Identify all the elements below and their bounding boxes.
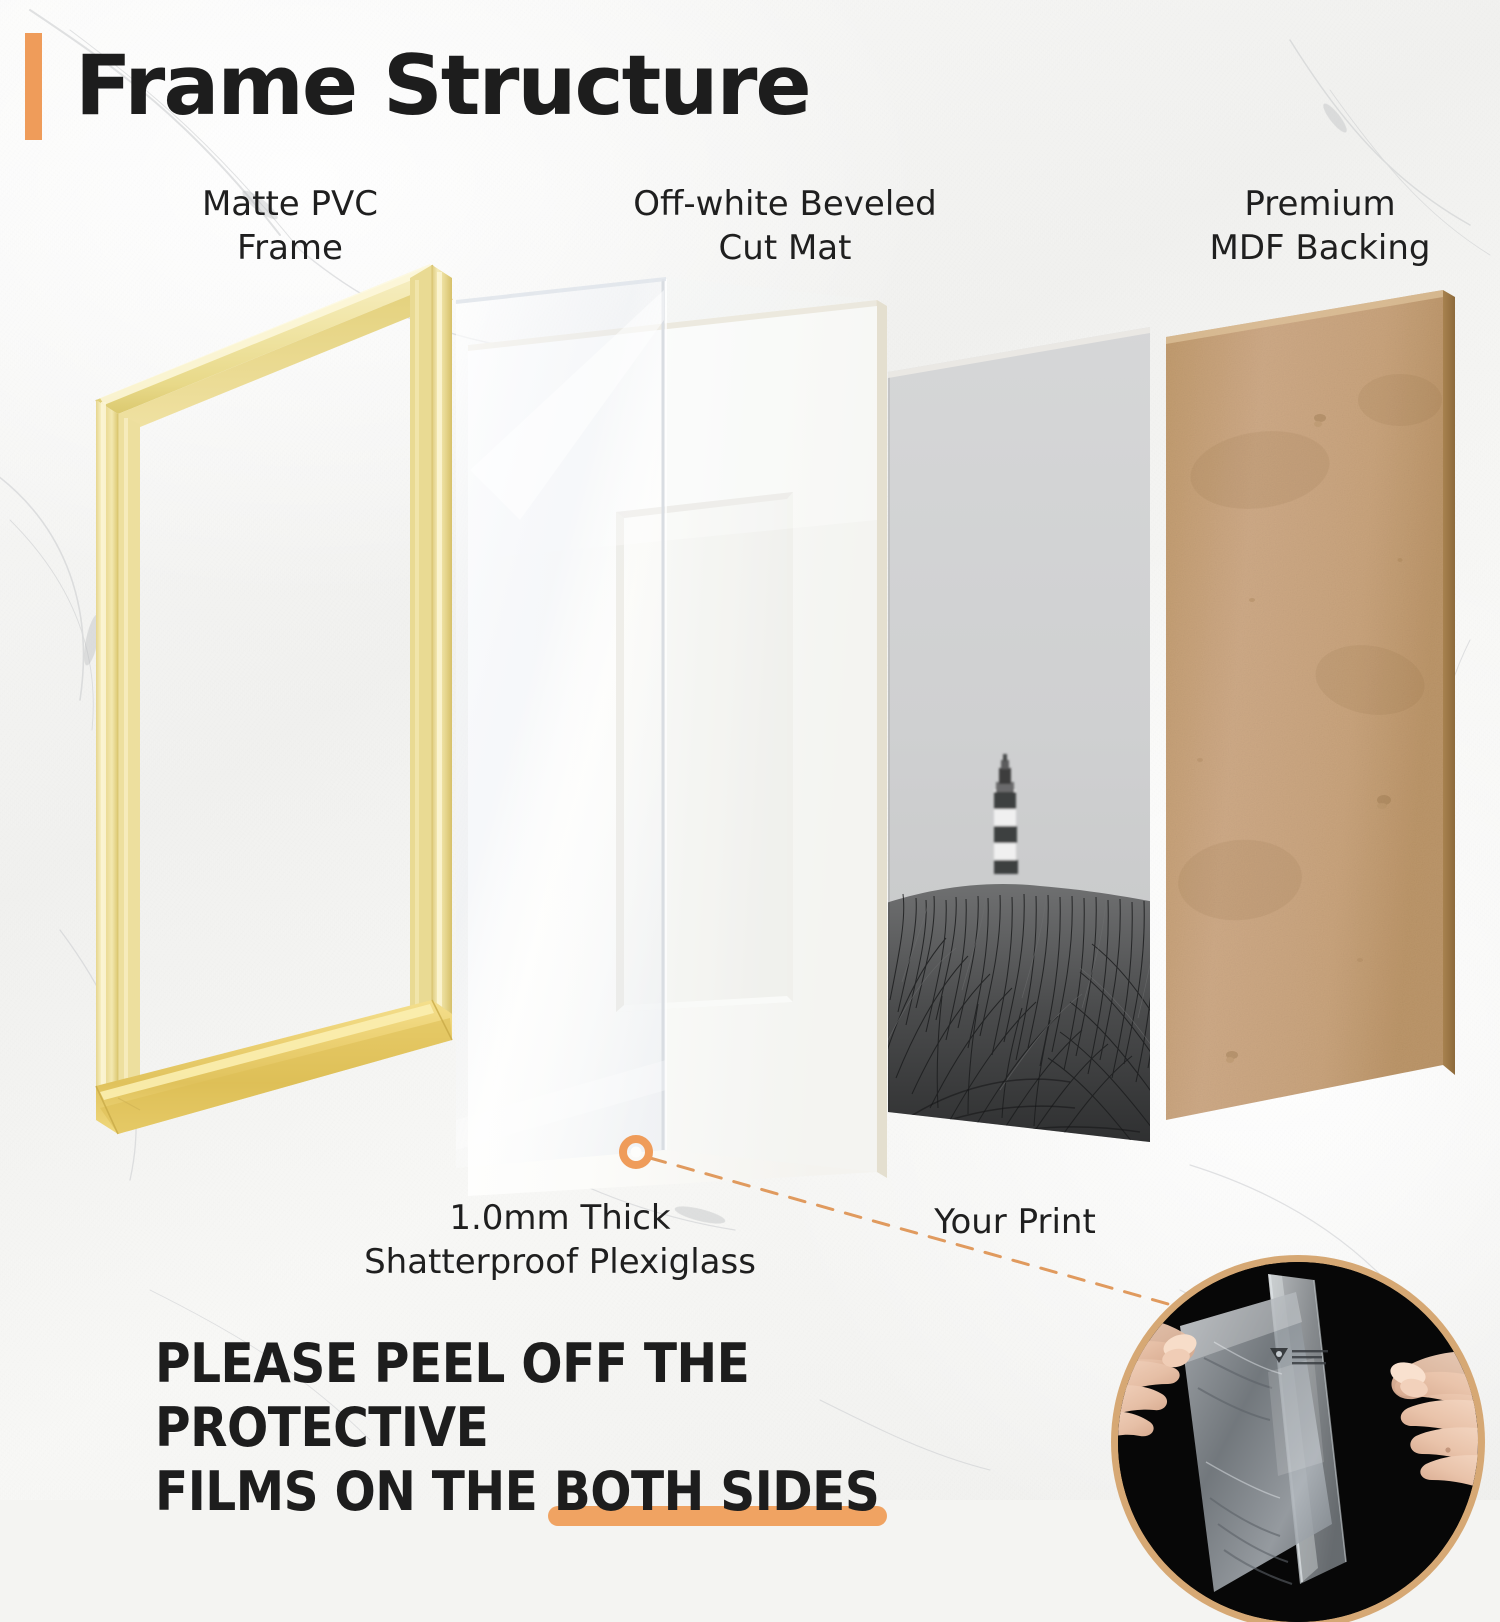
label-line-1: Off-white Beveled: [575, 182, 995, 226]
label-line-2: Frame: [120, 226, 460, 270]
label-line-1: Matte PVC: [120, 182, 460, 226]
label-shatterproof-plexiglass: 1.0mm Thick Shatterproof Plexiglass: [275, 1196, 845, 1284]
notice-line-2: FILMS ON THE BOTH SIDES: [155, 1460, 1085, 1524]
title-accent-bar: [25, 33, 42, 140]
page-title: Frame Structure: [75, 30, 810, 142]
label-off-white-beveled-cut-mat: Off-white Beveled Cut Mat: [575, 182, 995, 270]
label-premium-mdf-backing: Premium MDF Backing: [1150, 182, 1490, 270]
notice-line-1: PLEASE PEEL OFF THE PROTECTIVE: [155, 1332, 1085, 1460]
notice-line-2-prefix: FILMS ON THE: [155, 1460, 554, 1523]
label-your-print: Your Print: [880, 1200, 1150, 1244]
protective-film-peel-photo: [1118, 1262, 1478, 1622]
label-line-2: Shatterproof Plexiglass: [275, 1240, 845, 1284]
label-line-1: Premium: [1150, 182, 1490, 226]
label-line-2: Cut Mat: [575, 226, 995, 270]
label-line-2: MDF Backing: [1150, 226, 1490, 270]
notice-highlight: BOTH SIDES: [554, 1460, 880, 1524]
label-line-1: 1.0mm Thick: [275, 1196, 845, 1240]
peel-protective-film-notice: PLEASE PEEL OFF THE PROTECTIVE FILMS ON …: [155, 1332, 1085, 1524]
label-matte-pvc-frame: Matte PVC Frame: [120, 182, 460, 270]
